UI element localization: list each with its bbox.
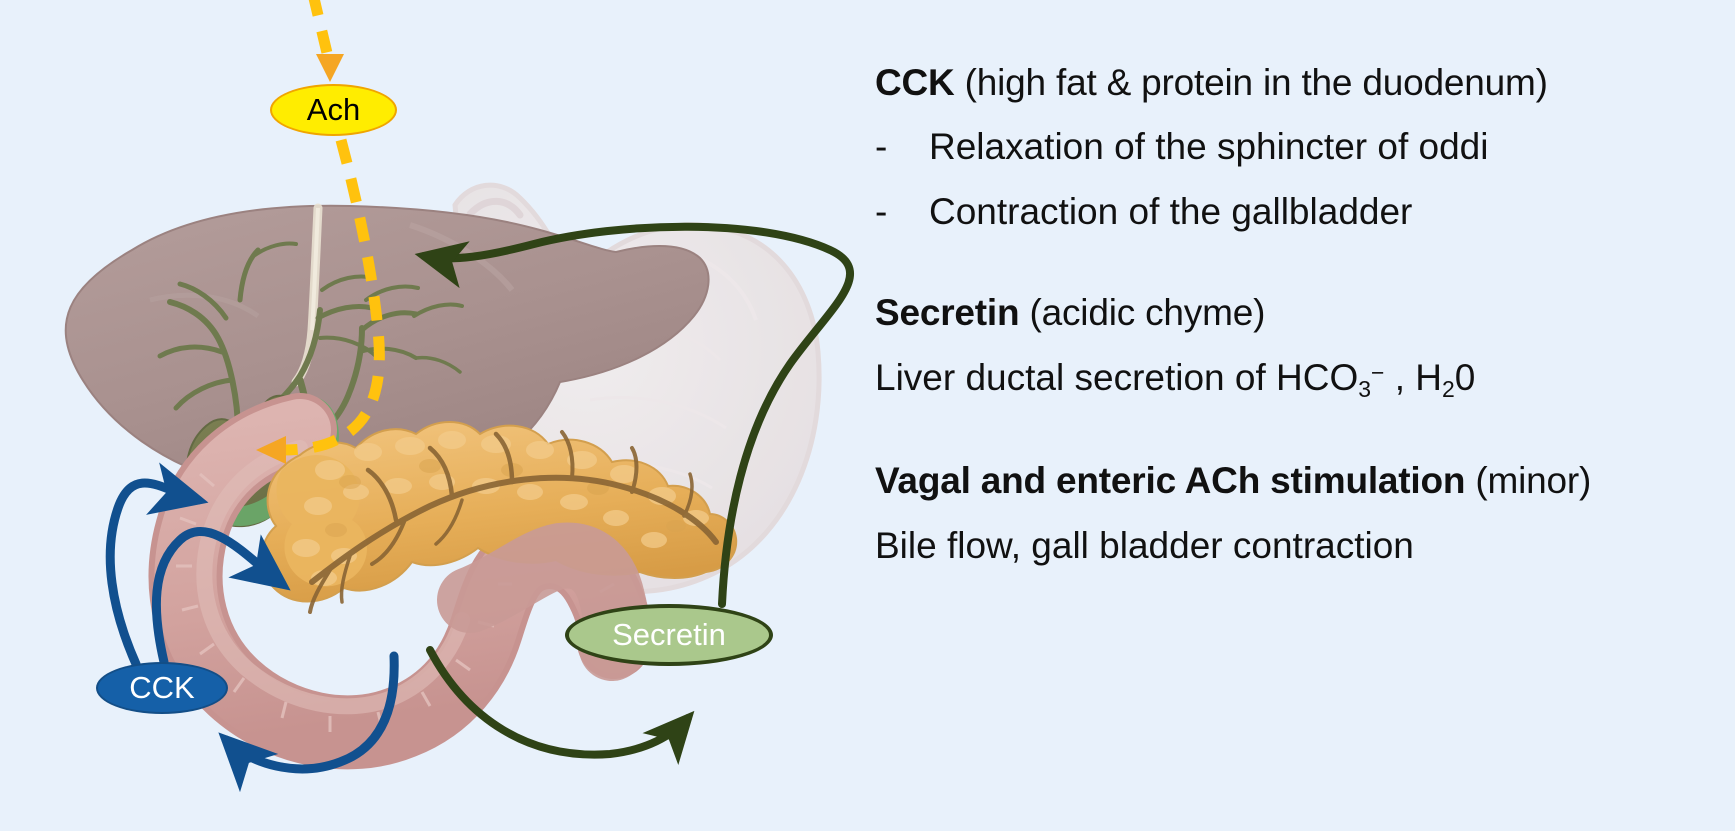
cck-heading-rest: (high fat & protein in the duodenum): [955, 62, 1548, 103]
secretin-heading: Secretin (acidic chyme): [875, 292, 1735, 333]
h2o-subscript: 2: [1442, 376, 1455, 402]
secretin-body-line: Liver ductal secretion of HCO3− , H20: [875, 357, 1735, 403]
cck-bullet-2: - Contraction of the gallbladder: [875, 191, 1735, 232]
spacer: [875, 402, 1735, 460]
bullet-dash-icon: -: [875, 191, 929, 232]
cck-label-text: CCK: [129, 670, 194, 706]
hco3-subscript: 3: [1358, 376, 1371, 402]
secretin-label-text: Secretin: [612, 617, 726, 653]
cck-heading-bold: CCK: [875, 62, 955, 103]
vagal-heading: Vagal and enteric ACh stimulation (minor…: [875, 460, 1735, 501]
secretin-body-suffix: 0: [1455, 357, 1476, 398]
cck-bullet-1-text: Relaxation of the sphincter of oddi: [929, 126, 1488, 167]
secretin-body-mid: , H: [1384, 357, 1442, 398]
label-oval-secretin[interactable]: Secretin: [565, 604, 773, 666]
bullet-dash-icon: -: [875, 126, 929, 167]
spacer: [875, 232, 1735, 292]
cck-bullet-1: - Relaxation of the sphincter of oddi: [875, 126, 1735, 167]
vagal-body-line: Bile flow, gall bladder contraction: [875, 525, 1735, 566]
cck-heading: CCK (high fat & protein in the duodenum): [875, 62, 1735, 103]
label-oval-ach[interactable]: Ach: [270, 84, 397, 136]
vagal-heading-rest: (minor): [1465, 460, 1591, 501]
label-oval-cck[interactable]: CCK: [96, 662, 228, 714]
secretin-heading-bold: Secretin: [875, 292, 1019, 333]
secretin-heading-rest: (acidic chyme): [1019, 292, 1265, 333]
vagal-heading-bold: Vagal and enteric ACh stimulation: [875, 460, 1465, 501]
hco3-charge-superscript: −: [1371, 359, 1384, 385]
explanation-text-panel: CCK (high fat & protein in the duodenum)…: [875, 62, 1735, 566]
secretin-body-prefix: Liver ductal secretion of HCO: [875, 357, 1358, 398]
ach-label-text: Ach: [307, 92, 360, 128]
cck-bullet-2-text: Contraction of the gallbladder: [929, 191, 1412, 232]
